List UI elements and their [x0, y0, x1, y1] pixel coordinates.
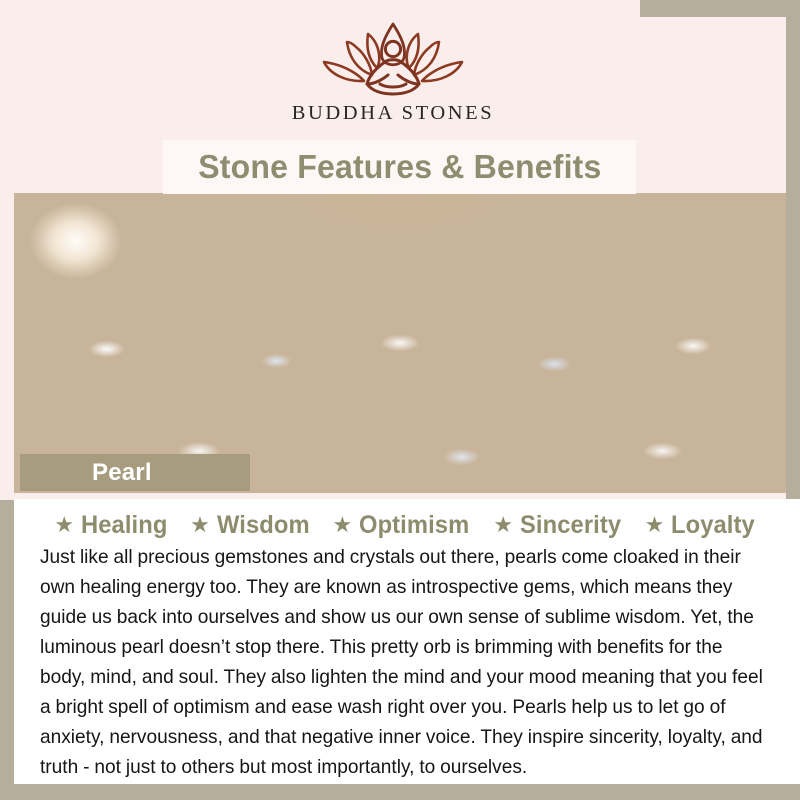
- frame-band-bottom: [0, 783, 800, 800]
- page-title: Stone Features & Benefits: [198, 148, 601, 186]
- star-icon: ★: [54, 514, 74, 536]
- keyword-item-healing: ★ Healing: [54, 511, 172, 540]
- keyword-list: ★ Healing ★ Wisdom ★ Optimism ★ Sincerit…: [14, 499, 800, 540]
- description-paragraph: Just like all precious gemstones and cry…: [40, 542, 765, 782]
- content-card: ★ Healing ★ Wisdom ★ Optimism ★ Sincerit…: [14, 499, 800, 784]
- frame-band-top-right: [640, 0, 800, 17]
- pearls-photo-sheen: [14, 193, 786, 493]
- keyword-item-optimism: ★ Optimism: [333, 511, 476, 540]
- keyword-label: Sincerity: [520, 511, 621, 540]
- brand-logo: BUDDHA STONES: [0, 18, 786, 140]
- stone-name-label: Pearl: [20, 459, 152, 487]
- keyword-label: Loyalty: [671, 511, 755, 540]
- poster-root: BUDDHA STONES Stone Features & Benefits …: [0, 0, 800, 800]
- star-icon: ★: [645, 514, 665, 536]
- keyword-label: Healing: [81, 511, 167, 540]
- keyword-item-sincerity: ★ Sincerity: [493, 511, 626, 540]
- brand-wordmark: BUDDHA STONES: [292, 102, 495, 125]
- keyword-label: Optimism: [359, 511, 469, 540]
- star-icon: ★: [190, 514, 210, 536]
- keyword-label: Wisdom: [217, 511, 310, 540]
- lotus-meditation-figure-icon: [306, 18, 480, 100]
- frame-band-left: [0, 500, 14, 800]
- keyword-item-loyalty: ★ Loyalty: [645, 511, 760, 540]
- hero-image: [14, 193, 786, 493]
- stone-name-banner: Pearl: [20, 454, 250, 491]
- star-icon: ★: [333, 514, 353, 536]
- star-icon: ★: [493, 514, 513, 536]
- page-title-plaque: Stone Features & Benefits: [163, 140, 636, 194]
- keyword-item-wisdom: ★ Wisdom: [190, 511, 314, 540]
